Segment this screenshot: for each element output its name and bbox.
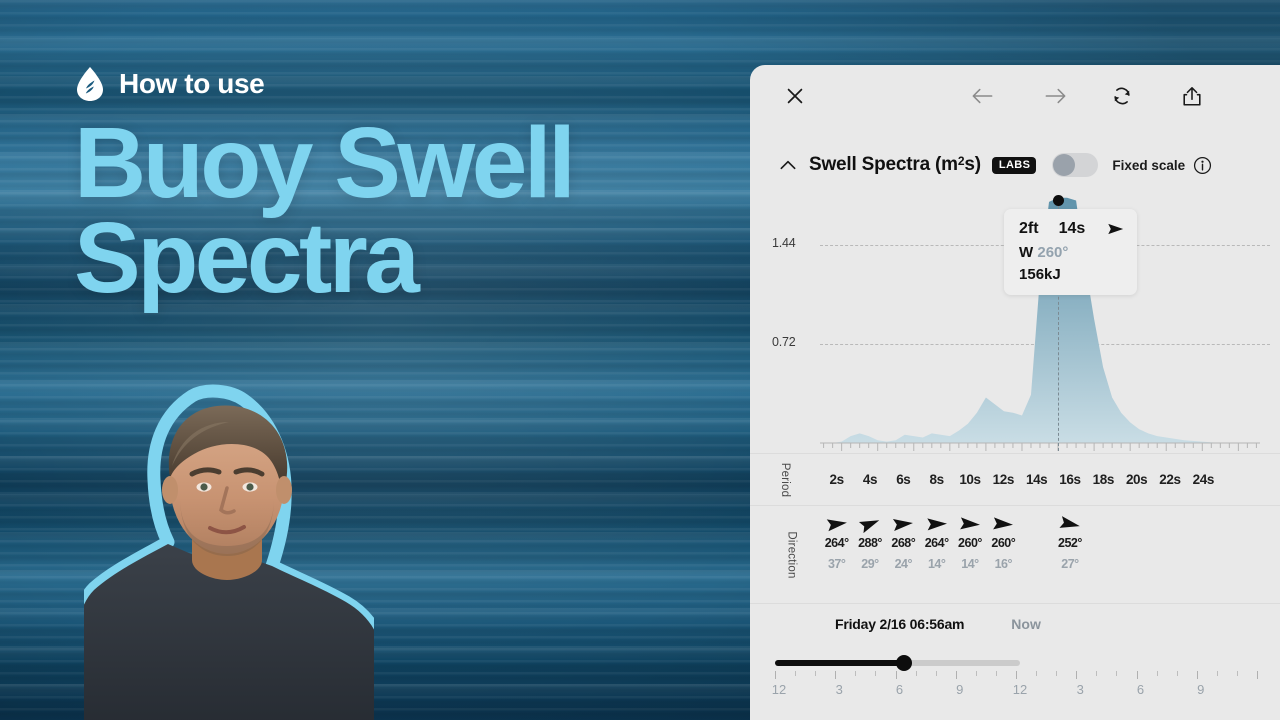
hour-label: 3 [836, 682, 843, 697]
period-row: Period 2s4s6s8s10s12s14s16s18s20s22s24s [750, 453, 1280, 505]
direction-spread: 16° [987, 557, 1020, 571]
y-axis-label-lower: 0.72 [772, 335, 796, 349]
section-header: Swell Spectra (m2s) LABS Fixed scale [750, 131, 1280, 185]
arrow-left-icon [970, 85, 995, 107]
refresh-icon [1111, 85, 1133, 107]
slider-fill [775, 660, 903, 666]
direction-arrow-slot [953, 514, 986, 534]
hour-tick [855, 671, 856, 676]
refresh-button[interactable] [1105, 79, 1139, 113]
presenter-photo [84, 380, 374, 720]
kicker-text: How to use [119, 68, 264, 100]
back-button[interactable] [965, 79, 999, 113]
close-button[interactable] [778, 79, 812, 113]
tooltip-direction: W 260° [1019, 244, 1124, 261]
direction-arrow-slot [1053, 514, 1086, 534]
panel-topbar [750, 65, 1280, 131]
direction-column: 288°29° [853, 514, 886, 571]
hour-label: 3 [1077, 682, 1084, 697]
direction-column: 252°27° [1053, 514, 1086, 571]
page-title: Buoy Swell Spectra [74, 116, 714, 306]
direction-arrow-slot [887, 514, 920, 534]
direction-column: 268°24° [887, 514, 920, 571]
hour-label: 6 [1137, 682, 1144, 697]
water-drop-icon [74, 66, 106, 102]
section-title-tail: s) [964, 154, 981, 175]
period-tick-10s: 10s [953, 472, 986, 487]
hour-tick [1096, 671, 1097, 676]
period-tick-6s: 6s [887, 472, 920, 487]
hour-tick [1217, 671, 1218, 676]
direction-column [1020, 514, 1053, 571]
tooltip-direction-compass: W [1019, 244, 1033, 261]
direction-columns: 264°37°288°29°268°24°264°14°260°14°260°1… [820, 514, 1220, 571]
direction-arrow-slot [1153, 514, 1186, 534]
tooltip-energy: 156kJ [1019, 266, 1124, 283]
chart-tooltip: 2ft 14s W 260° 156kJ [1004, 209, 1137, 295]
hour-tick-labels: 1236912369 [775, 682, 1257, 700]
direction-degrees: 264° [820, 536, 853, 550]
labs-badge[interactable]: LABS [992, 157, 1037, 174]
chevron-up-icon[interactable] [778, 155, 798, 175]
direction-spread: 37° [820, 557, 853, 571]
direction-column [1120, 514, 1153, 571]
direction-arrow-icon [857, 512, 883, 535]
close-icon [784, 85, 806, 107]
direction-column: 264°37° [820, 514, 853, 571]
hour-tick [1036, 671, 1037, 676]
direction-arrow-icon [892, 515, 916, 533]
tooltip-period: 14s [1059, 220, 1086, 238]
hour-tick [1157, 671, 1158, 676]
direction-arrow-icon [1107, 222, 1124, 236]
share-icon [1181, 85, 1203, 108]
section-title-main: Swell Spectra (m [809, 154, 958, 175]
hour-tick [1116, 671, 1117, 676]
direction-arrow-slot [920, 514, 953, 534]
arrow-right-icon [1043, 85, 1068, 107]
time-slider-section: Friday 2/16 06:56am Now 1236912369 [750, 603, 1280, 699]
direction-row: Direction 264°37°288°29°268°24°264°14°26… [750, 505, 1280, 603]
direction-arrow-icon [992, 515, 1015, 532]
cursor-dot[interactable] [1053, 195, 1064, 206]
direction-column [1187, 514, 1220, 571]
hour-tick [875, 671, 876, 676]
now-button[interactable]: Now [1011, 616, 1041, 632]
direction-arrow-slot [820, 514, 853, 534]
direction-spread: 14° [953, 557, 986, 571]
info-icon[interactable] [1193, 156, 1212, 175]
hour-tick [1056, 671, 1057, 676]
share-button[interactable] [1175, 79, 1209, 113]
direction-column: 264°14° [920, 514, 953, 571]
direction-degrees: 268° [887, 536, 920, 550]
direction-column [1087, 514, 1120, 571]
direction-arrow-slot [1187, 514, 1220, 534]
direction-arrow-slot [1087, 514, 1120, 534]
tooltip-direction-degrees: 260° [1037, 244, 1068, 261]
direction-degrees: 260° [953, 536, 986, 550]
direction-arrow-slot [987, 514, 1020, 534]
hour-label: 9 [956, 682, 963, 697]
direction-arrow-icon [925, 516, 948, 533]
hour-label: 12 [1013, 682, 1027, 697]
period-tick-24s: 24s [1187, 472, 1220, 487]
direction-degrees: 260° [987, 536, 1020, 550]
hour-tick [896, 671, 897, 679]
period-tick-14s: 14s [1020, 472, 1053, 487]
direction-degrees: 264° [920, 536, 953, 550]
kicker: How to use [74, 66, 714, 102]
hour-tick [1237, 671, 1238, 676]
period-tick-16s: 16s [1053, 472, 1086, 487]
direction-degrees: 252° [1053, 536, 1086, 550]
direction-spread: 29° [853, 557, 886, 571]
forward-button[interactable] [1038, 79, 1072, 113]
fixed-scale-label: Fixed scale [1112, 158, 1185, 173]
y-axis-label-upper: 1.44 [772, 236, 796, 250]
period-tick-18s: 18s [1087, 472, 1120, 487]
hour-tick [795, 671, 796, 676]
direction-row-label: Direction [786, 531, 798, 578]
hour-tick [1137, 671, 1138, 679]
period-tick-2s: 2s [820, 472, 853, 487]
hour-tick [775, 671, 776, 679]
period-row-label: Period [779, 462, 791, 496]
hour-ticks [775, 671, 1257, 681]
period-tick-22s: 22s [1153, 472, 1186, 487]
hour-tick [1016, 671, 1017, 679]
hour-tick [1177, 671, 1178, 676]
hour-tick [1257, 671, 1258, 679]
hour-tick [835, 671, 836, 679]
direction-arrow-icon [958, 515, 981, 532]
hour-label: 9 [1197, 682, 1204, 697]
app-panel: Swell Spectra (m2s) LABS Fixed scale 1.4… [750, 65, 1280, 720]
direction-arrow-icon [1058, 514, 1083, 534]
hour-label: 6 [896, 682, 903, 697]
time-header: Friday 2/16 06:56am Now [750, 604, 1280, 632]
section-title: Swell Spectra (m2s) [809, 154, 981, 176]
direction-spread: 14° [920, 557, 953, 571]
period-tick-4s: 4s [853, 472, 886, 487]
hour-tick [1076, 671, 1077, 679]
period-tick-12s: 12s [987, 472, 1020, 487]
period-tick-labels: 2s4s6s8s10s12s14s16s18s20s22s24s [820, 472, 1220, 487]
hour-tick [815, 671, 816, 676]
hour-tick [956, 671, 957, 679]
period-tick-8s: 8s [920, 472, 953, 487]
direction-column [1153, 514, 1186, 571]
time-slider[interactable] [775, 660, 1020, 666]
screenshot-root: How to use Buoy Swell Spectra [0, 0, 1280, 720]
period-tick-20s: 20s [1120, 472, 1153, 487]
hour-tick [996, 671, 997, 676]
hour-tick [976, 671, 977, 676]
presenter-silhouette [84, 380, 374, 720]
hour-tick [916, 671, 917, 676]
hour-tick [1197, 671, 1198, 679]
direction-spread: 27° [1053, 557, 1086, 571]
toggle-knob [1053, 154, 1075, 176]
hour-tick [936, 671, 937, 676]
direction-arrow-slot [1020, 514, 1053, 534]
tooltip-primary-row: 2ft 14s [1019, 220, 1124, 238]
slider-handle[interactable] [896, 655, 912, 671]
direction-arrow-slot [1120, 514, 1153, 534]
hour-label: 12 [772, 682, 786, 697]
time-date-label: Friday 2/16 06:56am [835, 616, 964, 632]
direction-column: 260°14° [953, 514, 986, 571]
direction-arrow-icon [825, 515, 849, 534]
direction-column: 260°16° [987, 514, 1020, 571]
direction-spread: 24° [887, 557, 920, 571]
tooltip-wave-height: 2ft [1019, 220, 1039, 238]
hero-block: How to use Buoy Swell Spectra [74, 66, 714, 306]
fixed-scale-toggle[interactable] [1052, 153, 1098, 177]
direction-degrees: 288° [853, 536, 886, 550]
spectra-chart: 1.44 0.72 2ft 14s [750, 191, 1280, 453]
direction-arrow-slot [853, 514, 886, 534]
